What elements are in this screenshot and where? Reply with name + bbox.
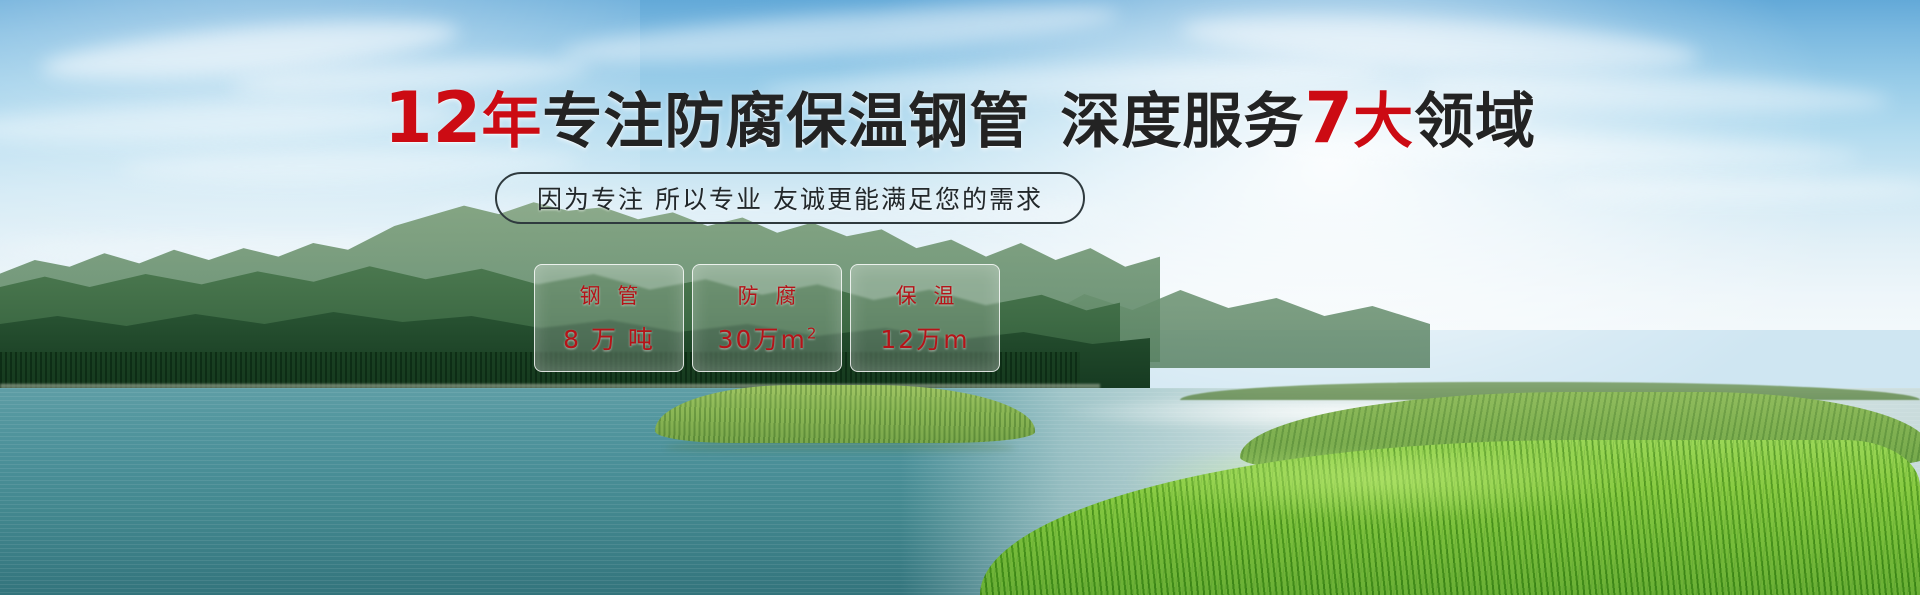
banner-headline: 12年专注防腐保温钢管深度服务7大领域 — [0, 86, 1920, 154]
headline-fields-number: 7 — [1304, 77, 1353, 159]
stat-card-title: 防 腐 — [733, 280, 802, 310]
headline-second-text: 深度服务 — [1060, 87, 1304, 157]
stat-card-value: 8 万 吨 — [563, 320, 655, 356]
headline-years-unit: 年 — [481, 87, 542, 157]
headline-tail-text: 领域 — [1414, 87, 1536, 157]
stat-card-insulation[interactable]: 保 温 12万m — [850, 264, 1000, 372]
stat-card-title: 保 温 — [891, 280, 960, 310]
stat-card-title: 钢 管 — [575, 280, 644, 310]
stat-card-value: 12万m — [880, 320, 969, 356]
subtitle-text: 因为专注 所以专业 友诚更能满足您的需求 — [537, 180, 1043, 216]
foreground-grass-highlight — [1120, 452, 1640, 522]
headline-main-text: 专注防腐保温钢管 — [542, 87, 1030, 157]
headline-fields-unit: 大 — [1353, 87, 1414, 157]
stat-card-list: 钢 管 8 万 吨 防 腐 30万m2 保 温 12万m — [534, 264, 1000, 372]
stat-card-value-text: 8 万 吨 — [563, 325, 655, 354]
stat-card-value-text: 12万m — [880, 325, 969, 354]
stat-card-anticorrosion[interactable]: 防 腐 30万m2 — [692, 264, 842, 372]
cloud — [1560, 176, 1920, 202]
headline-years-number: 12 — [384, 77, 481, 159]
stat-card-value: 30万m2 — [718, 320, 817, 356]
hero-banner: 12年专注防腐保温钢管深度服务7大领域 因为专注 所以专业 友诚更能满足您的需求… — [0, 0, 1920, 595]
stat-card-steel-pipe[interactable]: 钢 管 8 万 吨 — [534, 264, 684, 372]
stat-card-value-text: 30万m — [718, 325, 807, 354]
stat-card-value-sup: 2 — [807, 325, 817, 343]
subtitle-pill: 因为专注 所以专业 友诚更能满足您的需求 — [495, 172, 1085, 224]
